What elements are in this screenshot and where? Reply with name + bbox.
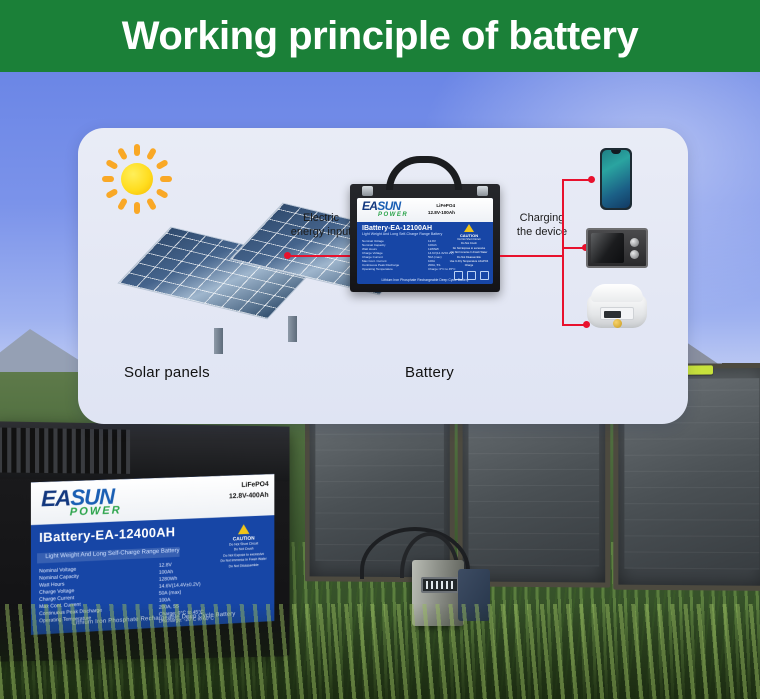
distribution-bus-line: [562, 180, 564, 325]
sun-icon: [100, 142, 174, 216]
warning-triangle-icon: [238, 524, 250, 534]
warning-triangle-icon: [464, 224, 474, 232]
working-principle-diagram: Solar panels Electric energy input EASUN…: [78, 128, 688, 424]
rating-text: 12.8V-100Ah: [428, 209, 455, 216]
branch-dot-smartphone: [588, 176, 595, 183]
microwave-knob: [630, 238, 639, 247]
smartphone-icon: [600, 148, 632, 210]
battery-label-footer: Lithium Iron Phosphate Rechargeable Deep…: [357, 278, 493, 282]
arrow-input-to-battery: [289, 255, 352, 257]
battery-icon: EASUN POWER LiFePO4 12.8V-100Ah IBattery…: [350, 184, 500, 292]
caution-line: Do Not Immerse In Fresh Water: [447, 251, 491, 255]
logo-power: POWER: [70, 505, 122, 518]
caution-line: Use In Dry Temperature LiFePO4 Charge: [447, 260, 491, 269]
logo-sun: SUN: [377, 199, 400, 213]
pv-mount-leg: [288, 316, 297, 342]
rice-cooker-lid: [591, 284, 643, 302]
rice-cooker-knob: [613, 319, 622, 328]
microwave-icon: [586, 228, 648, 268]
battery-chemistry-block: LiFePO4 12.8V-400Ah: [229, 480, 269, 502]
rating-text: 12.8V-400Ah: [229, 490, 269, 502]
battery-chemistry-block: LiFePO4 12.8V-100Ah: [428, 202, 455, 217]
power-bank-indicator: [421, 577, 459, 593]
battery-terminal-positive: [477, 186, 488, 196]
microwave-control-panel: [627, 233, 643, 263]
pv-mount-leg: [214, 328, 223, 354]
grass-foreground: [0, 604, 760, 699]
rice-cooker-icon: [587, 284, 647, 328]
phone-screen: [602, 150, 630, 208]
battery-terminal-negative: [362, 186, 373, 196]
chemistry-text: LiFePO4: [428, 202, 455, 209]
solar-panels-caption: Solar panels: [124, 364, 210, 381]
output-label-line1: Charging: [502, 212, 582, 226]
microwave-knob: [630, 250, 639, 259]
rice-cooker-display: [604, 311, 621, 318]
sun-core: [121, 163, 153, 195]
logo-ea: EA: [362, 199, 377, 213]
arrow-battery-to-bus: [500, 255, 562, 257]
phone-notch: [611, 150, 621, 154]
battery-label-small: EASUN POWER LiFePO4 12.8V-100Ah IBattery…: [357, 198, 493, 284]
battery-top-casing: [0, 421, 290, 481]
microwave-door: [591, 233, 624, 263]
easun-power-logo: EASUN POWER: [41, 485, 121, 519]
spec-name: Operating Temperature: [362, 267, 422, 271]
battery-handle: [386, 156, 462, 190]
product-scene-photo: EASUN POWER LiFePO4 12.8V-400Ah IBattery…: [0, 72, 760, 699]
page-title: Working principle of battery: [122, 14, 638, 59]
output-label-line2: the device: [502, 226, 582, 240]
logo-power: POWER: [378, 212, 408, 218]
battery-label-header: EASUN POWER LiFePO4 12.8V-100Ah: [357, 198, 493, 222]
charging-the-device-label: Charging the device: [502, 212, 582, 240]
solar-panel-icon: [128, 224, 388, 354]
easun-power-logo: EASUN POWER: [362, 200, 408, 218]
battery-vent-fins: [0, 427, 130, 473]
logo-ea: EA: [41, 485, 70, 511]
page-header-banner: Working principle of battery: [0, 0, 760, 72]
caution-block: CAUTION Do Not Short Circuit Do Not Crus…: [447, 224, 491, 269]
battery-caption: Battery: [405, 364, 454, 381]
caution-block: CAUTION Do Not Short Circuit Do Not Crus…: [219, 523, 269, 570]
